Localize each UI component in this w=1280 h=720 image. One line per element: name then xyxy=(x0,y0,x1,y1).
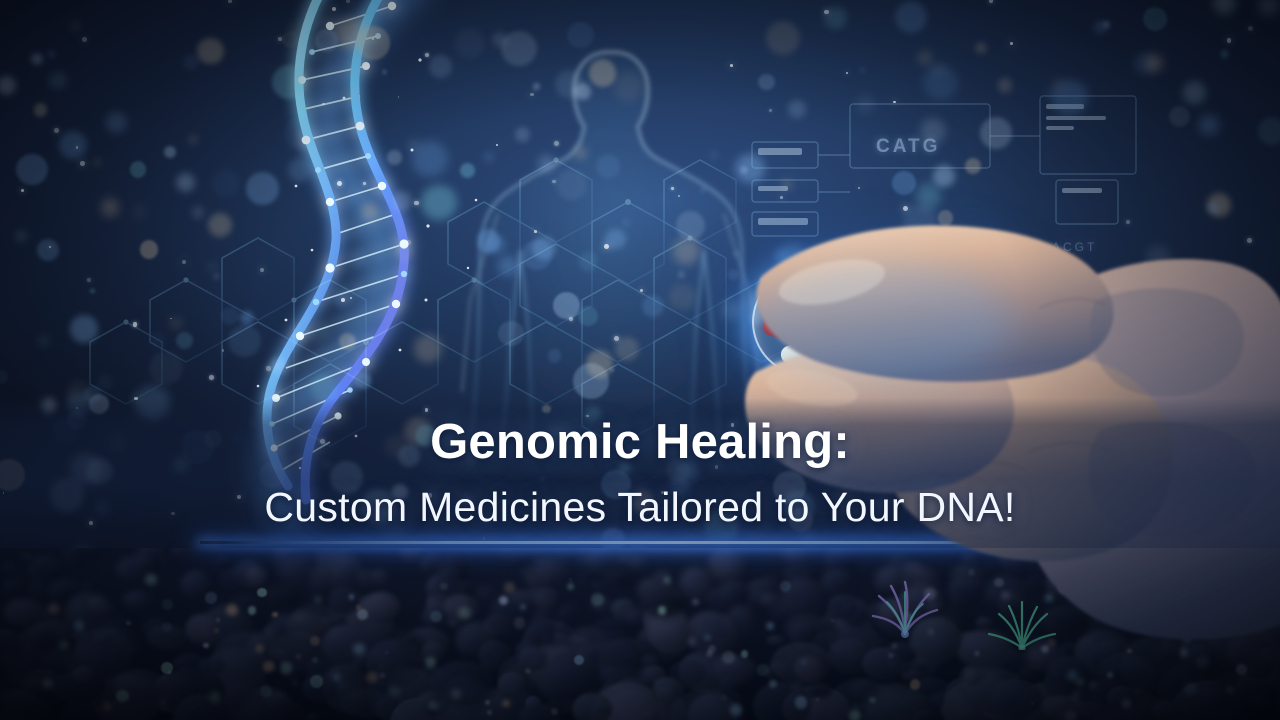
page-subtitle: Custom Medicines Tailored to Your DNA! xyxy=(0,484,1280,531)
page-title: Genomic Healing: xyxy=(0,414,1280,470)
banner-image: CATG ACGT xyxy=(0,0,1280,720)
vignette xyxy=(0,0,1280,720)
